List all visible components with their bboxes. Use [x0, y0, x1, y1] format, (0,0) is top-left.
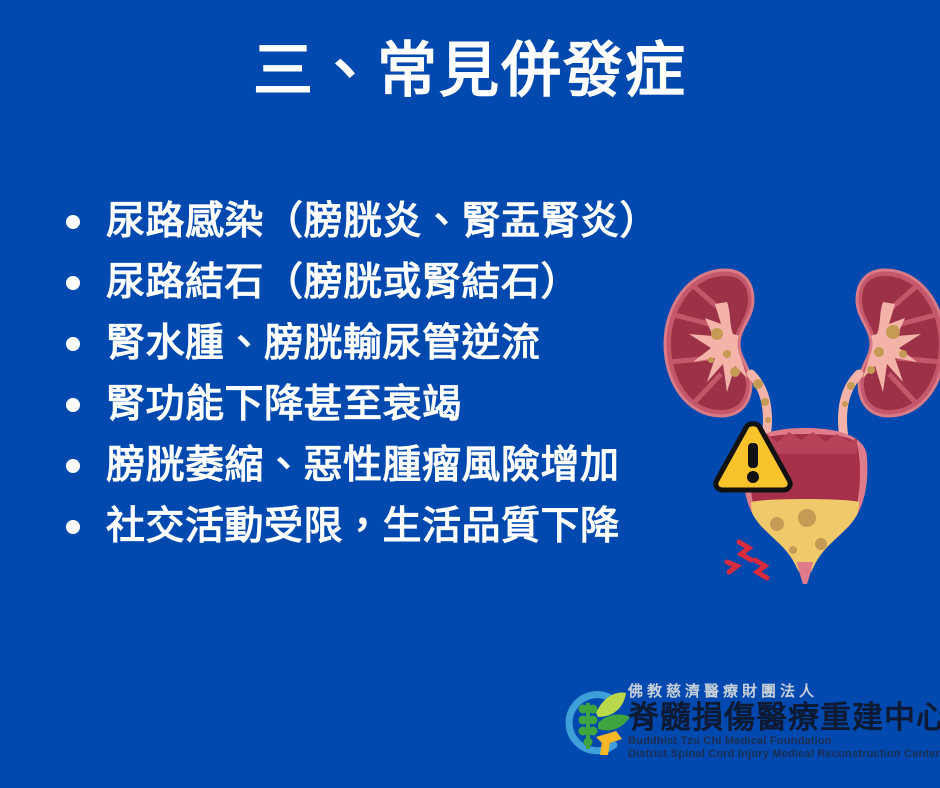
- list-item-label: 尿路感染（膀胱炎、腎盂腎炎）: [106, 191, 659, 252]
- list-item: 社交活動受限，生活品質下降: [58, 496, 758, 557]
- logo-center-name-en: District Spinal Cord Injury Medical Reco…: [628, 748, 936, 761]
- list-item-label: 腎水腫、膀胱輸尿管逆流: [106, 313, 541, 374]
- list-item-label: 腎功能下降甚至衰竭: [106, 374, 462, 435]
- logo-foundation-name-en: Buddhist Tzu Chi Medical Foundation: [628, 735, 936, 748]
- pain-lines: [727, 542, 767, 578]
- list-item-label: 尿路結石（膀胱或腎結石）: [106, 252, 580, 313]
- complications-list: 尿路感染（膀胱炎、腎盂腎炎） 尿路結石（膀胱或腎結石） 腎水腫、膀胱輸尿管逆流 …: [58, 191, 758, 557]
- bullet-dot-icon: [66, 398, 80, 412]
- bullet-dot-icon: [66, 520, 80, 534]
- urinary-system-illustration: [655, 262, 940, 582]
- list-item: 尿路感染（膀胱炎、腎盂腎炎）: [58, 191, 758, 252]
- list-item-label: 膀胱萎縮、惡性腫瘤風險增加: [106, 435, 620, 496]
- list-item-label: 社交活動受限，生活品質下降: [106, 496, 620, 557]
- bullet-dot-icon: [66, 337, 80, 351]
- bullet-dot-icon: [66, 459, 80, 473]
- page-title: 三、常見併發症: [0, 38, 940, 104]
- logo-text-block: 佛教慈濟醫療財團法人 脊髓損傷醫療重建中心 Buddhist Tzu Chi M…: [628, 683, 936, 761]
- list-item: 腎水腫、膀胱輸尿管逆流: [58, 313, 758, 374]
- list-item: 膀胱萎縮、惡性腫瘤風險增加: [58, 435, 758, 496]
- list-item: 腎功能下降甚至衰竭: [58, 374, 758, 435]
- logo-center-name-zh: 脊髓損傷醫療重建中心: [628, 701, 936, 735]
- list-item: 尿路結石（膀胱或腎結石）: [58, 252, 758, 313]
- bullet-dot-icon: [66, 215, 80, 229]
- slide-canvas: 三、常見併發症 尿路感染（膀胱炎、腎盂腎炎） 尿路結石（膀胱或腎結石） 腎水腫、…: [0, 0, 940, 788]
- organization-logo: 佛教慈濟醫療財團法人 脊髓損傷醫療重建中心 Buddhist Tzu Chi M…: [556, 683, 936, 763]
- bullet-dot-icon: [66, 276, 80, 290]
- tzu-chi-spine-leaf-emblem-icon: [556, 687, 634, 759]
